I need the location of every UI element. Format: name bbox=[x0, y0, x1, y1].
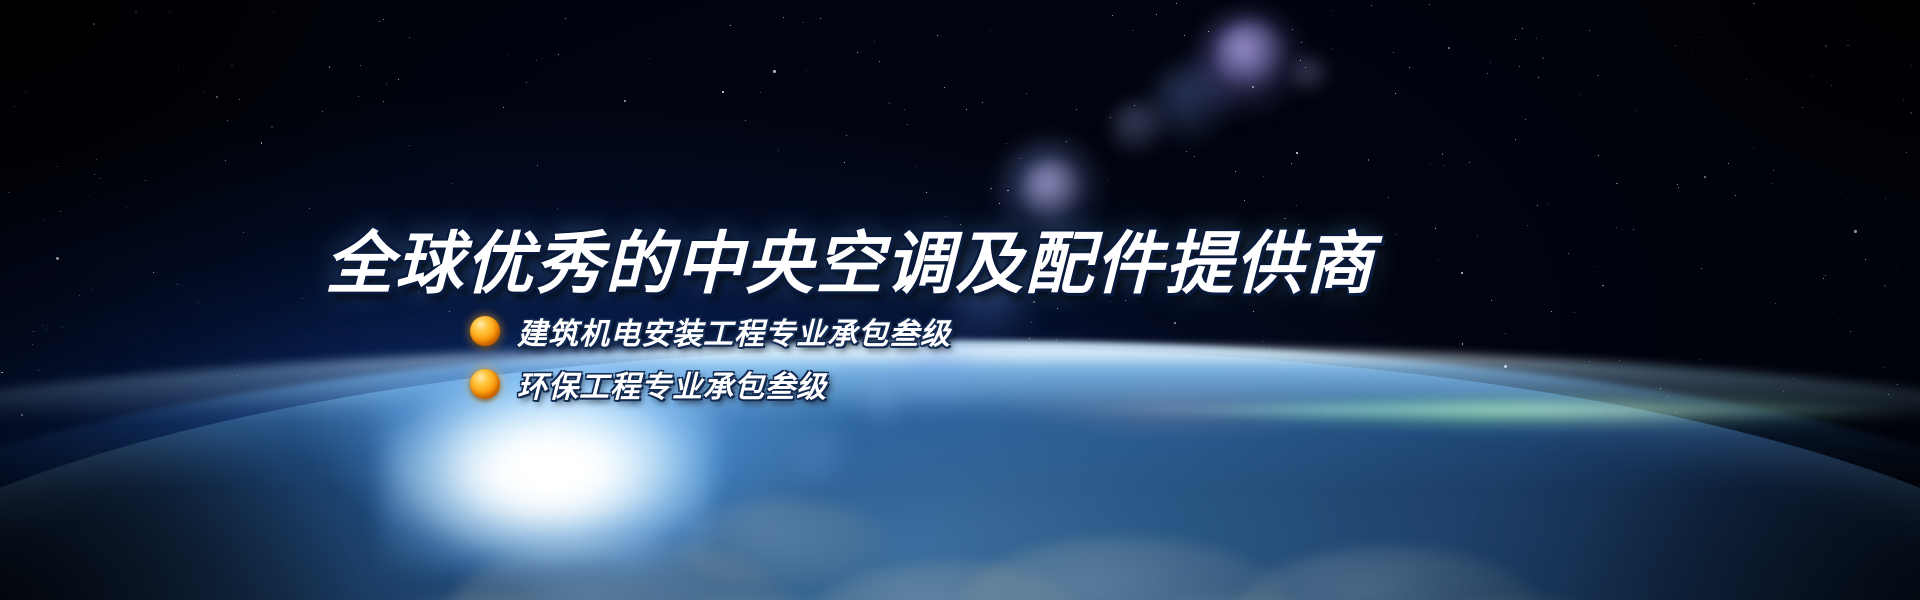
banner-headline: 全球优秀的中央空调及配件提供商 bbox=[0, 208, 1700, 307]
hero-banner: 全球优秀的中央空调及配件提供商 建筑机电安装工程专业承包叁级 环保工程专业承包叁… bbox=[0, 0, 1920, 600]
bullet-dot-icon bbox=[470, 369, 500, 399]
bullet-dot-icon bbox=[470, 316, 500, 346]
banner-bullet-list: 建筑机电安装工程专业承包叁级 环保工程专业承包叁级 bbox=[470, 306, 1370, 412]
bullet-label: 环保工程专业承包叁级 bbox=[517, 362, 827, 406]
banner-content: 全球优秀的中央空调及配件提供商 建筑机电安装工程专业承包叁级 环保工程专业承包叁… bbox=[0, 0, 1920, 600]
list-item: 建筑机电安装工程专业承包叁级 bbox=[470, 306, 1370, 356]
bullet-label: 建筑机电安装工程专业承包叁级 bbox=[517, 309, 951, 353]
list-item: 环保工程专业承包叁级 bbox=[470, 359, 1370, 409]
